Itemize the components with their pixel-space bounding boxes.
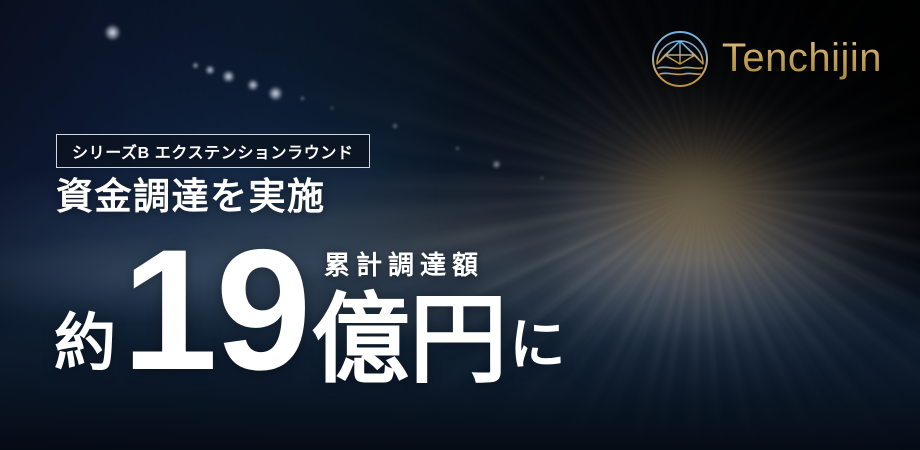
- amount-unit: 億円: [311, 298, 507, 381]
- headline-text: 資金調達を実施: [56, 178, 326, 215]
- tenchijin-logo[interactable]: Tenchijin: [651, 30, 882, 88]
- amount-display: 約 19 億円 に: [54, 240, 565, 379]
- amount-approx-prefix: 約: [54, 313, 116, 375]
- tenchijin-wordmark: Tenchijin: [722, 38, 882, 80]
- funding-round-badge: シリーズB エクステンションラウンド: [56, 134, 370, 168]
- amount-unit-group: 億円 に: [311, 298, 565, 379]
- funding-announcement-banner: Tenchijin シリーズB エクステンションラウンド 資金調達を実施 累計調…: [0, 0, 920, 450]
- amount-suffix: に: [509, 317, 565, 373]
- amount-number: 19: [122, 240, 309, 381]
- tenchijin-dome-icon: [651, 30, 709, 88]
